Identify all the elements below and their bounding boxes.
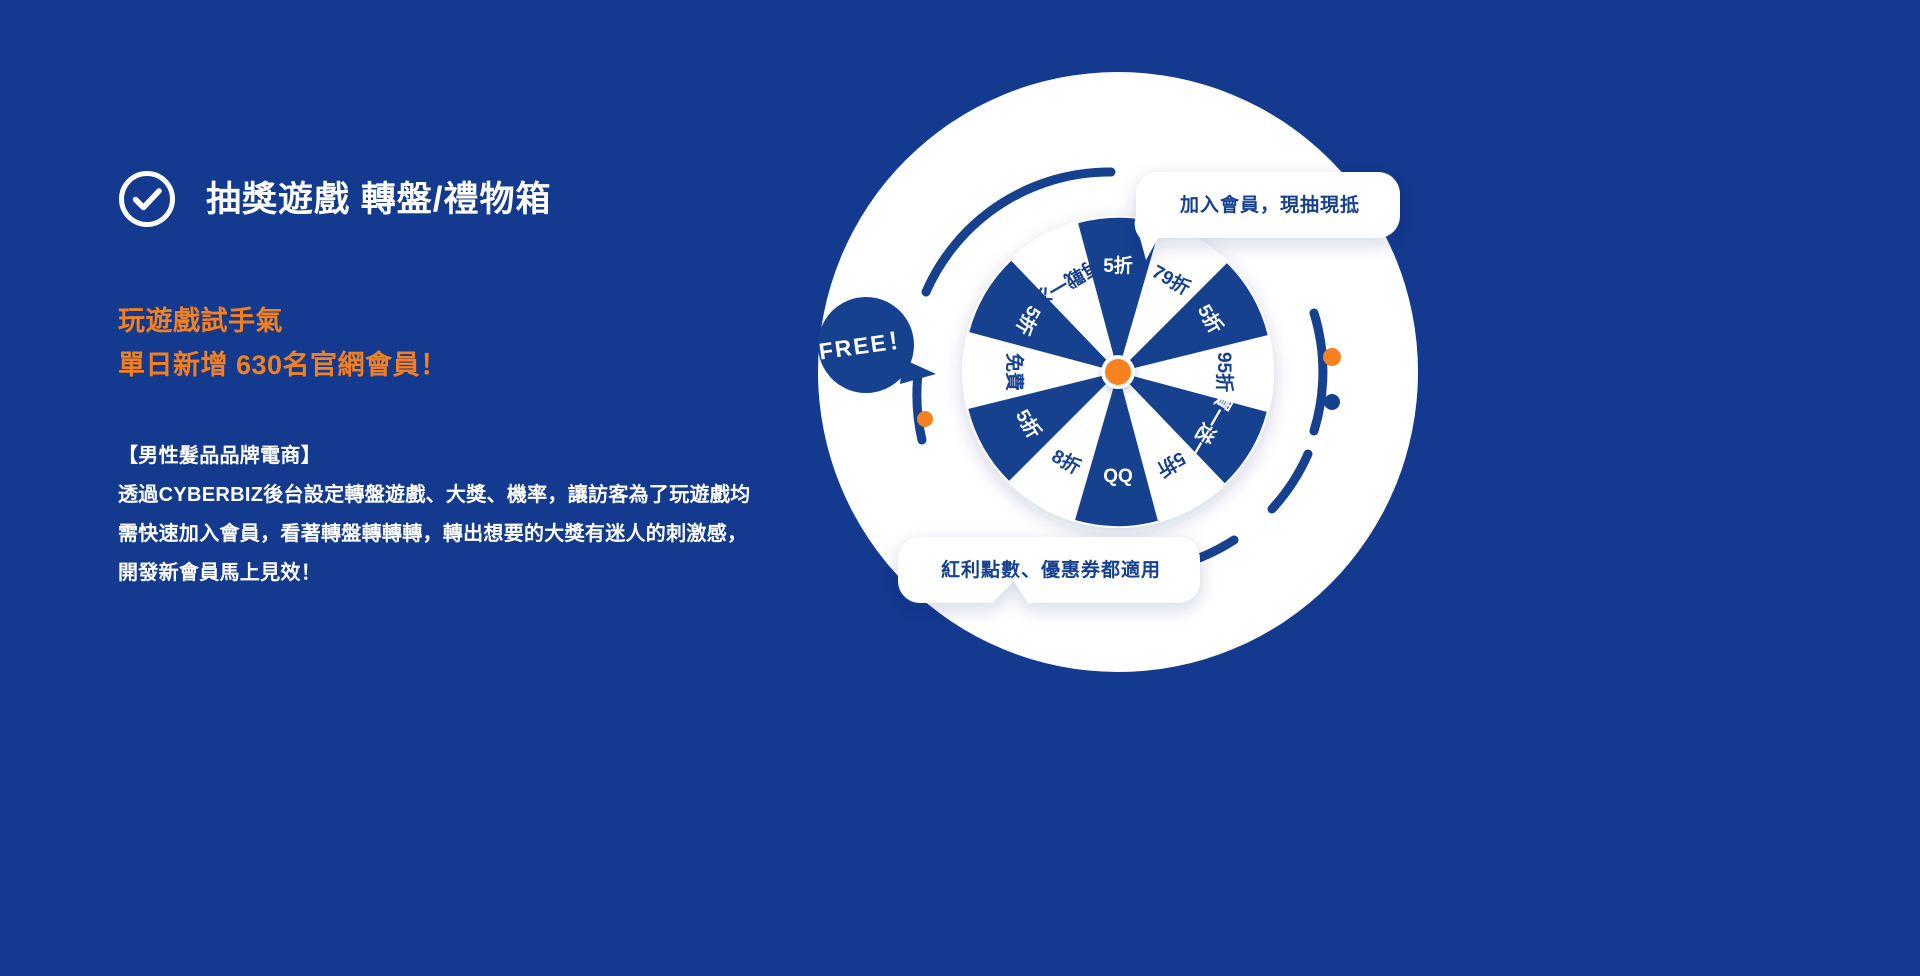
body-line-4: 開發新會員馬上見效！ (118, 554, 878, 593)
callout-top-label: 加入會員，現抽現抵 (1179, 193, 1360, 216)
wheel-hub[interactable] (1105, 359, 1131, 385)
highlight-text: 玩遊戲試手氣 單日新增 630名官網會員！ (118, 300, 878, 387)
highlight-line-2: 單日新增 630名官網會員！ (118, 344, 878, 388)
check-circle-icon (118, 170, 176, 228)
callout-bottom-label: 紅利點數、優惠券都適用 (941, 558, 1161, 581)
arc-left-lower (917, 374, 922, 440)
prize-wheel-graphic: 5折 79折 5折 95折 買一送一 5折 QQ 8折 5折 免費 5折 再戰一… (808, 62, 1428, 682)
body-copy: 【男性髮品品牌電商】 透過CYBERBIZ後台設定轉盤遊戲、大獎、機率，讓訪客為… (118, 437, 878, 593)
segment-label-6: QQ (1103, 466, 1133, 487)
segment-label-3: 95折 (1213, 352, 1235, 392)
callout-bottom: 紅利點數、優惠券都適用 (898, 537, 1200, 603)
body-line-3: 需快速加入會員，看著轉盤轉轉轉，轉出想要的大獎有迷人的刺激感， (118, 515, 878, 554)
body-line-1: 【男性髮品品牌電商】 (118, 437, 878, 476)
segment-label-0: 5折 (1103, 255, 1133, 277)
body-line-2: 透過CYBERBIZ後台設定轉盤遊戲、大獎、機率，讓訪客為了玩遊戲均 (118, 476, 878, 515)
dot-blue-right (1324, 394, 1340, 410)
dot-orange-right (1323, 348, 1341, 366)
page-title: 抽獎遊戲 轉盤/禮物箱 (206, 182, 551, 217)
highlight-line-1: 玩遊戲試手氣 (118, 300, 878, 344)
left-text-panel: 抽獎遊戲 轉盤/禮物箱 玩遊戲試手氣 單日新增 630名官網會員！ 【男性髮品品… (118, 170, 878, 593)
heading-row: 抽獎遊戲 轉盤/禮物箱 (118, 170, 878, 228)
segment-label-9: 免費 (1003, 353, 1026, 391)
dot-orange-left (917, 411, 933, 427)
